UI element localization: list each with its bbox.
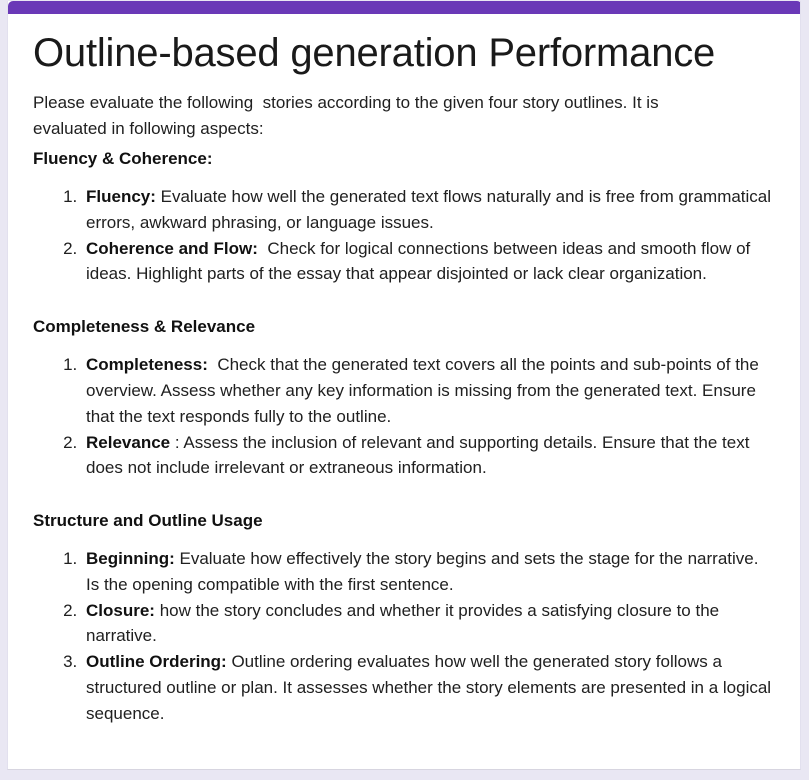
document-card: Outline-based generation Performance Ple… <box>7 1 801 770</box>
list-item: Beginning: Evaluate how effectively the … <box>82 546 778 598</box>
list-item-lead: Relevance <box>86 433 170 452</box>
list-item: Coherence and Flow: Check for logical co… <box>82 236 778 288</box>
section-heading-structure-outline-usage: Structure and Outline Usage <box>33 508 778 534</box>
list-item-lead: Outline Ordering: <box>86 652 227 671</box>
list-item: Relevance : Assess the inclusion of rele… <box>82 430 778 482</box>
list-item: Closure: how the story concludes and whe… <box>82 598 778 650</box>
list-item-lead: Closure: <box>86 601 155 620</box>
section-heading-completeness-relevance: Completeness & Relevance <box>33 314 778 340</box>
list-item-text: how the story concludes and whether it p… <box>86 601 724 646</box>
list-item-lead: Coherence and Flow: <box>86 239 258 258</box>
accent-bar <box>8 1 801 14</box>
list-item-lead: Beginning: <box>86 549 175 568</box>
list-item-text: Evaluate how effectively the story begin… <box>86 549 768 594</box>
list-item-text: : Assess the inclusion of relevant and s… <box>86 433 754 478</box>
list-item: Fluency: Evaluate how well the generated… <box>82 184 778 236</box>
section-heading-fluency-coherence: Fluency & Coherence: <box>33 146 778 172</box>
intro-paragraph: Please evaluate the following stories ac… <box>33 90 733 142</box>
list-item-lead: Completeness: <box>86 355 208 374</box>
document-body: Outline-based generation Performance Ple… <box>8 14 800 769</box>
list-item-lead: Fluency: <box>86 187 156 206</box>
criteria-list-fluency-coherence: Fluency: Evaluate how well the generated… <box>33 184 778 287</box>
page-title: Outline-based generation Performance <box>33 14 778 76</box>
list-item-text: Evaluate how well the generated text flo… <box>86 187 776 232</box>
list-item: Completeness: Check that the generated t… <box>82 352 778 429</box>
criteria-list-structure-outline-usage: Beginning: Evaluate how effectively the … <box>33 546 778 727</box>
list-item: Outline Ordering: Outline ordering evalu… <box>82 649 778 726</box>
criteria-list-completeness-relevance: Completeness: Check that the generated t… <box>33 352 778 481</box>
